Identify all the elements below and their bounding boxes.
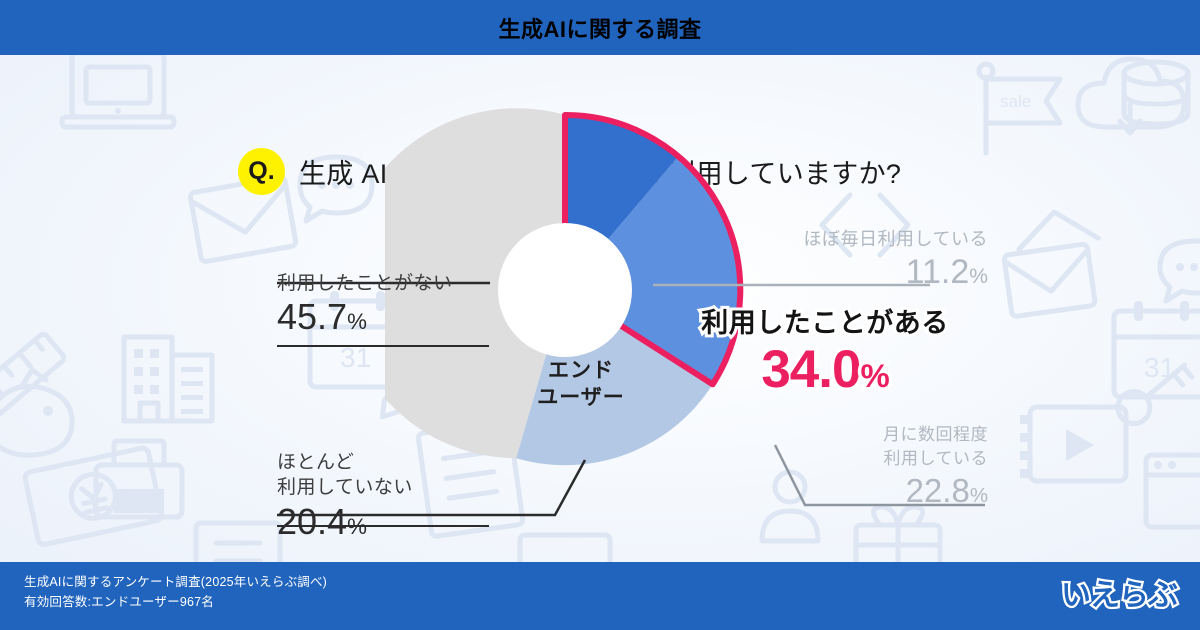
callout-never-title: 利用したことがない bbox=[277, 268, 453, 295]
callout-daily-title: ほぼ毎日利用している bbox=[640, 225, 988, 251]
footer-source-text: 生成AIに関するアンケート調査(2025年いえらぶ調べ) 有効回答数:エンドユー… bbox=[24, 572, 327, 612]
callout-monthly-title-line2: 利用している bbox=[700, 447, 988, 471]
footer-line1: 生成AIに関するアンケート調査(2025年いえらぶ調べ) bbox=[24, 572, 327, 592]
logo-text: いえらぶ bbox=[1061, 578, 1178, 613]
footer-line2: 有効回答数:エンドユーザー967名 bbox=[24, 592, 327, 612]
chart-center-label: エンド ユーザー bbox=[521, 357, 641, 411]
center-label-line2: ユーザー bbox=[521, 384, 641, 411]
callout-rare: ほとんど 利用していない 20.4% bbox=[277, 450, 413, 549]
callout-monthly: 月に数回程度 利用している 22.8% bbox=[700, 423, 988, 516]
callout-daily-value: 11.2% bbox=[640, 251, 988, 298]
infographic-canvas: 31 sale bbox=[0, 0, 1200, 630]
callout-monthly-title-line1: 月に数回程度 bbox=[700, 423, 988, 447]
callout-highlight-used: 利用したことがある 34.0% bbox=[660, 301, 990, 406]
callout-never-value: 45.7% bbox=[277, 295, 453, 344]
callout-monthly-value: 22.8% bbox=[700, 471, 988, 516]
callout-rare-title-line1: ほとんど bbox=[277, 450, 413, 475]
pie-chart: エンド ユーザー n=967 利用したことがない 45.7% ほとんど 利用して… bbox=[0, 55, 1200, 562]
donut-hole bbox=[498, 223, 632, 357]
page-title: 生成AIに関する調査 bbox=[0, 0, 1200, 55]
callout-daily: ほぼ毎日利用している 11.2% bbox=[640, 225, 988, 298]
callout-never-underline bbox=[277, 345, 489, 347]
callout-never: 利用したことがない 45.7% bbox=[277, 268, 453, 344]
callout-used-title: 利用したことがある bbox=[701, 301, 949, 340]
callout-rare-title-line2: 利用していない bbox=[277, 475, 413, 500]
callout-rare-underline bbox=[277, 525, 489, 527]
center-label-line1: エンド bbox=[521, 357, 641, 384]
callout-used-value: 34.0% bbox=[761, 340, 888, 406]
ielove-logo: いえらぶ bbox=[1056, 572, 1182, 618]
content-background: 31 sale bbox=[0, 55, 1200, 562]
